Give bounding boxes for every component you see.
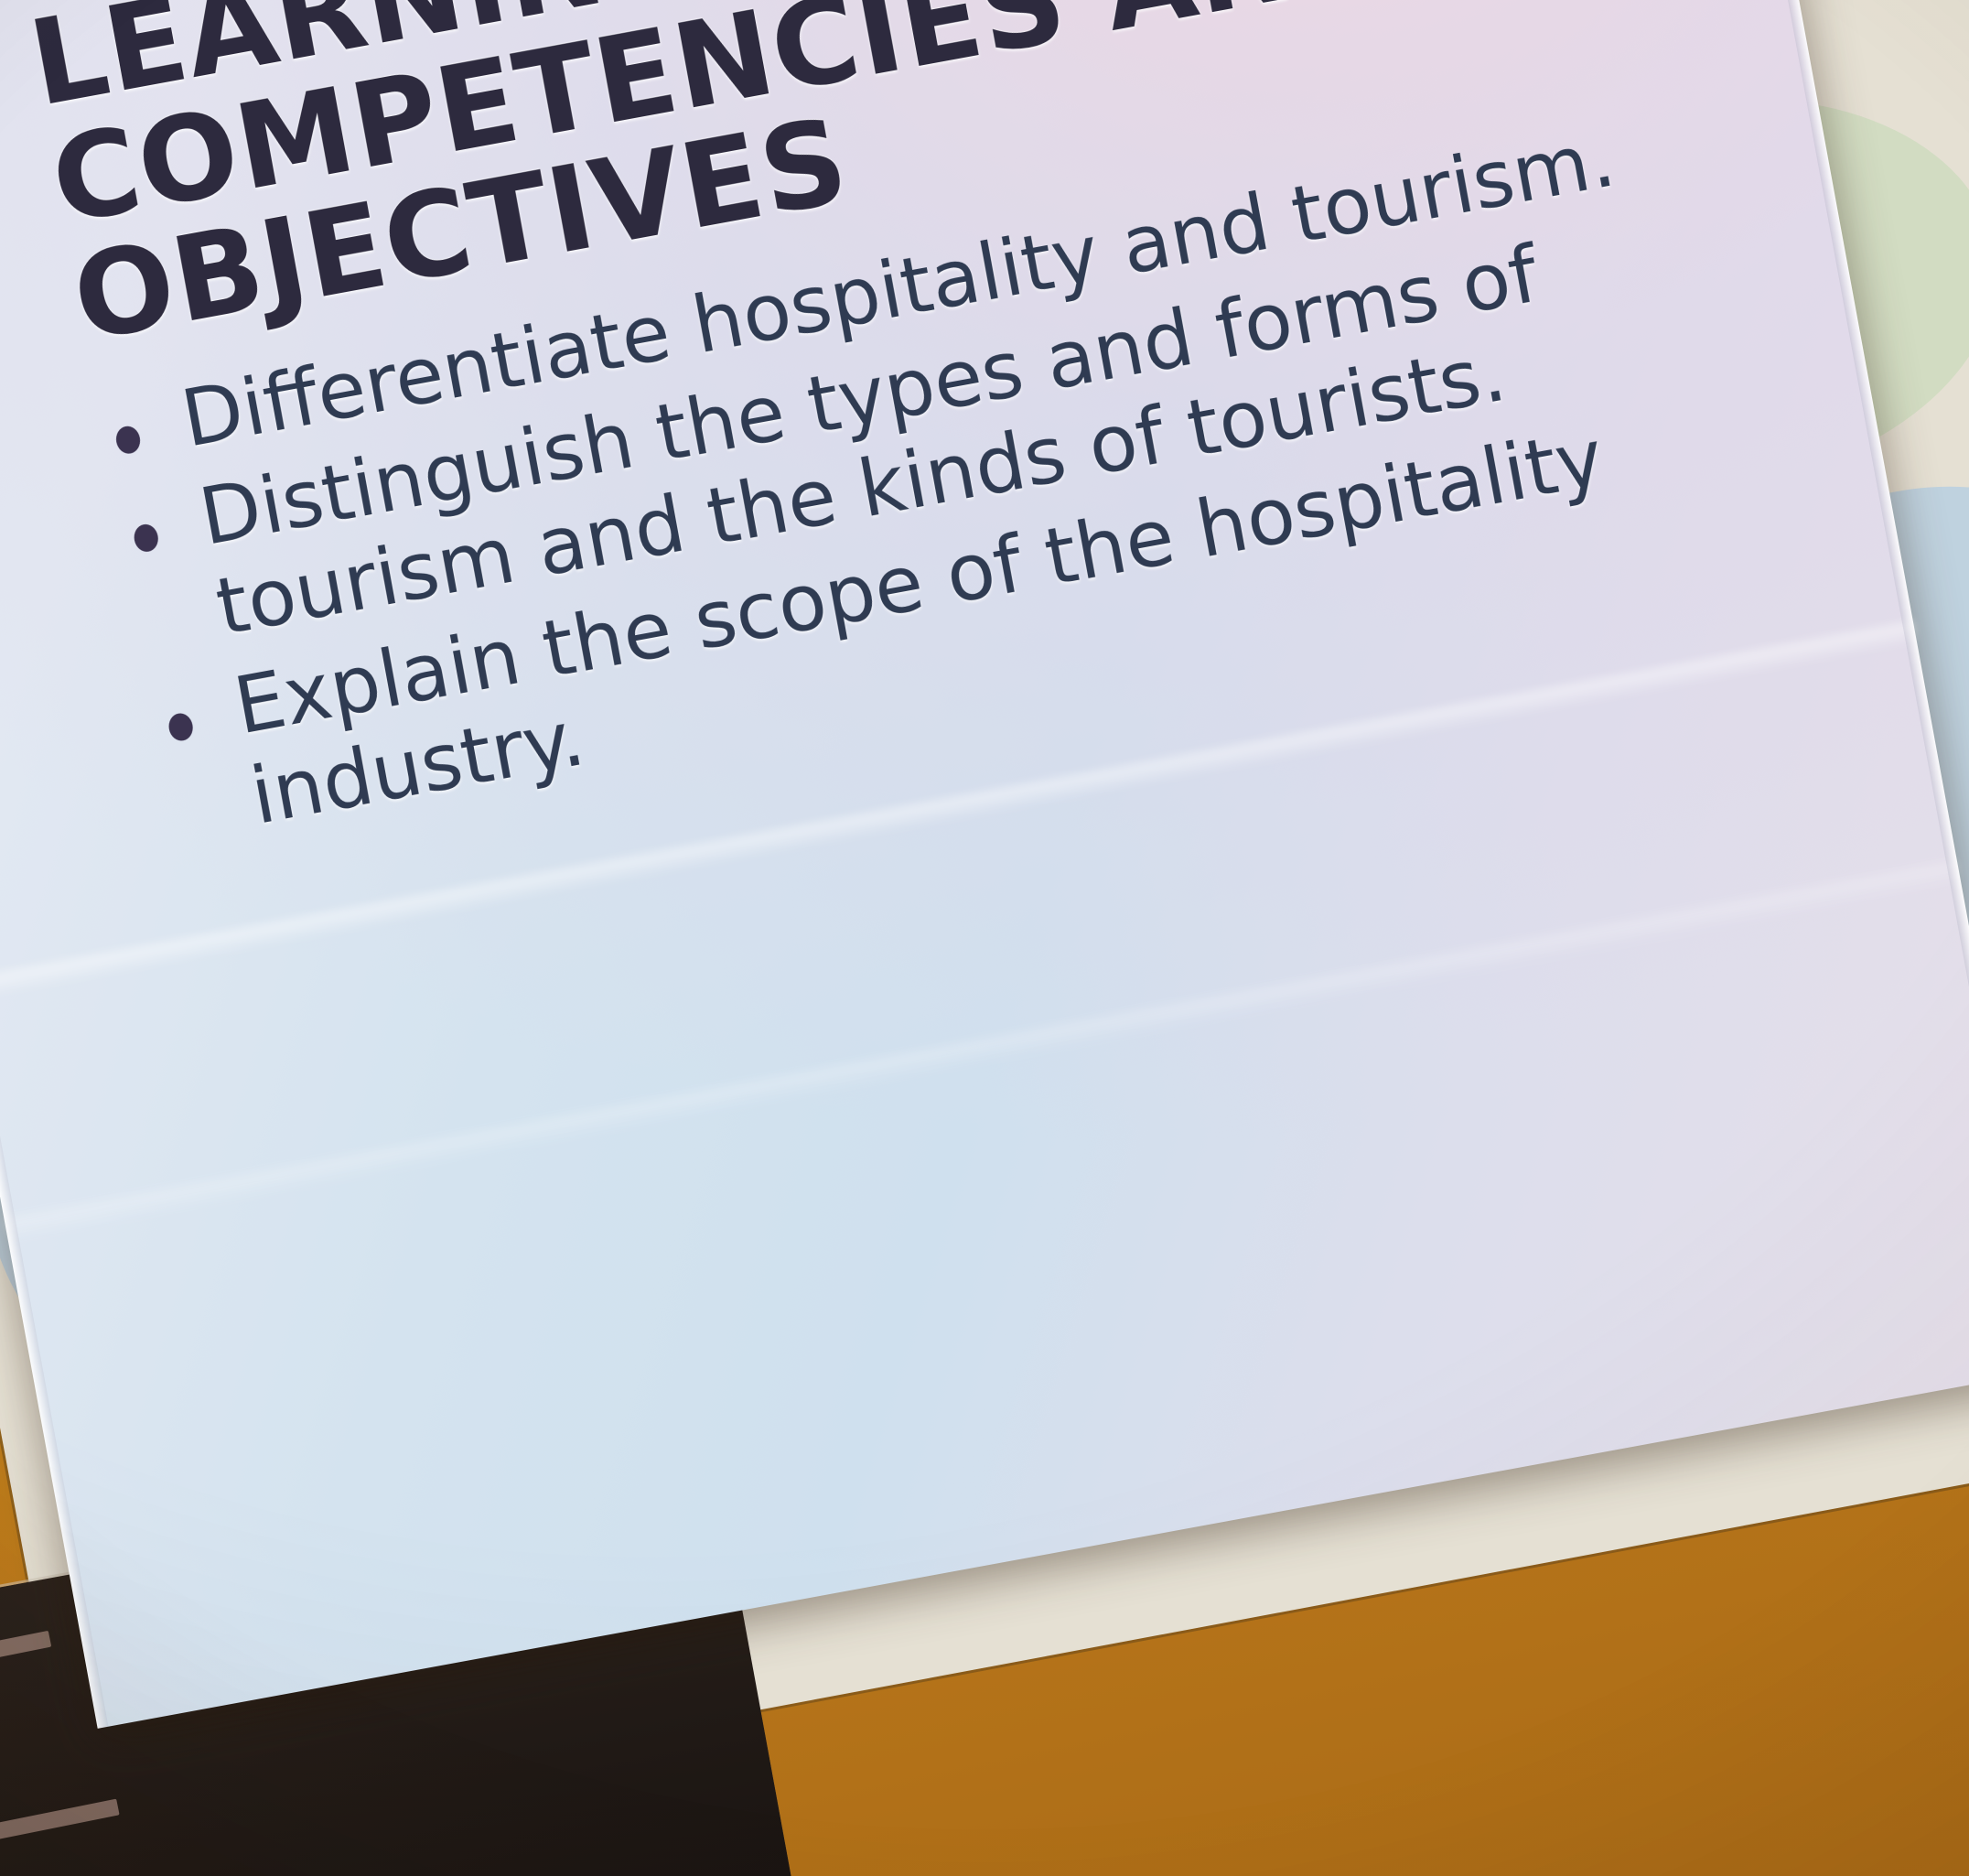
- photo-scene: FINLAND ESTONIA LATVIA AFRICA ◄)) ▤ S: [0, 0, 1969, 1876]
- bullet-dot-icon: [167, 711, 195, 742]
- bullet-dot-icon: [113, 424, 142, 455]
- bullet-dot-icon: [132, 523, 160, 554]
- slide-content: S LEARNING COMPETENCIES AND OBJECTIVES D…: [22, 0, 1899, 1412]
